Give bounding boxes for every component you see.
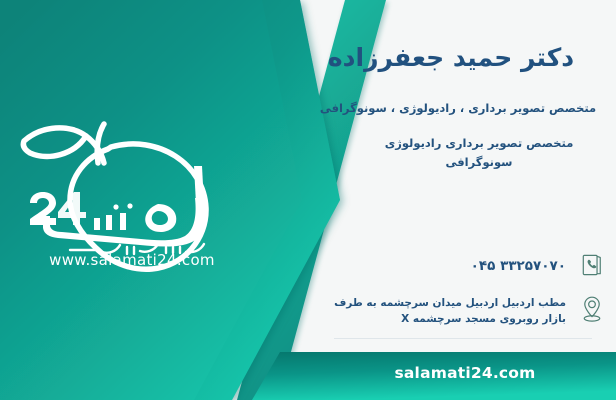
card-content: دکتر حمید جعفرزاده متخصص تصویر برداری ، … [300,0,616,400]
clinic-address: مطب اردبیل اردبیل میدان سرچشمه به طرف با… [308,294,566,328]
doctor-name: دکتر حمید جعفرزاده [300,42,602,73]
phone-number: ۳۳۲۵۷۰۷۰ ۰۴۵ [310,250,566,276]
address-row[interactable]: مطب اردبیل اردبیل میدان سرچشمه به طرف با… [308,294,606,328]
phone-book-icon [578,250,606,280]
phone-row[interactable]: ۳۳۲۵۷۰۷۰ ۰۴۵ [310,250,606,280]
footer-website[interactable]: salamati24.com [330,364,600,382]
specialty-line-secondary: متخصص تصویر برداری رادیولوژی سونوگرافی [356,134,602,171]
map-pin-icon [578,294,606,324]
logo-website: www.salamati24.com [8,251,256,269]
specialty-line-primary: متخصص تصویر برداری ، رادیولوژی ، سونوگرا… [314,100,602,117]
business-card: www.salamati24.com دکتر حمید جعفرزاده مت… [0,0,616,400]
content-divider [334,338,592,339]
